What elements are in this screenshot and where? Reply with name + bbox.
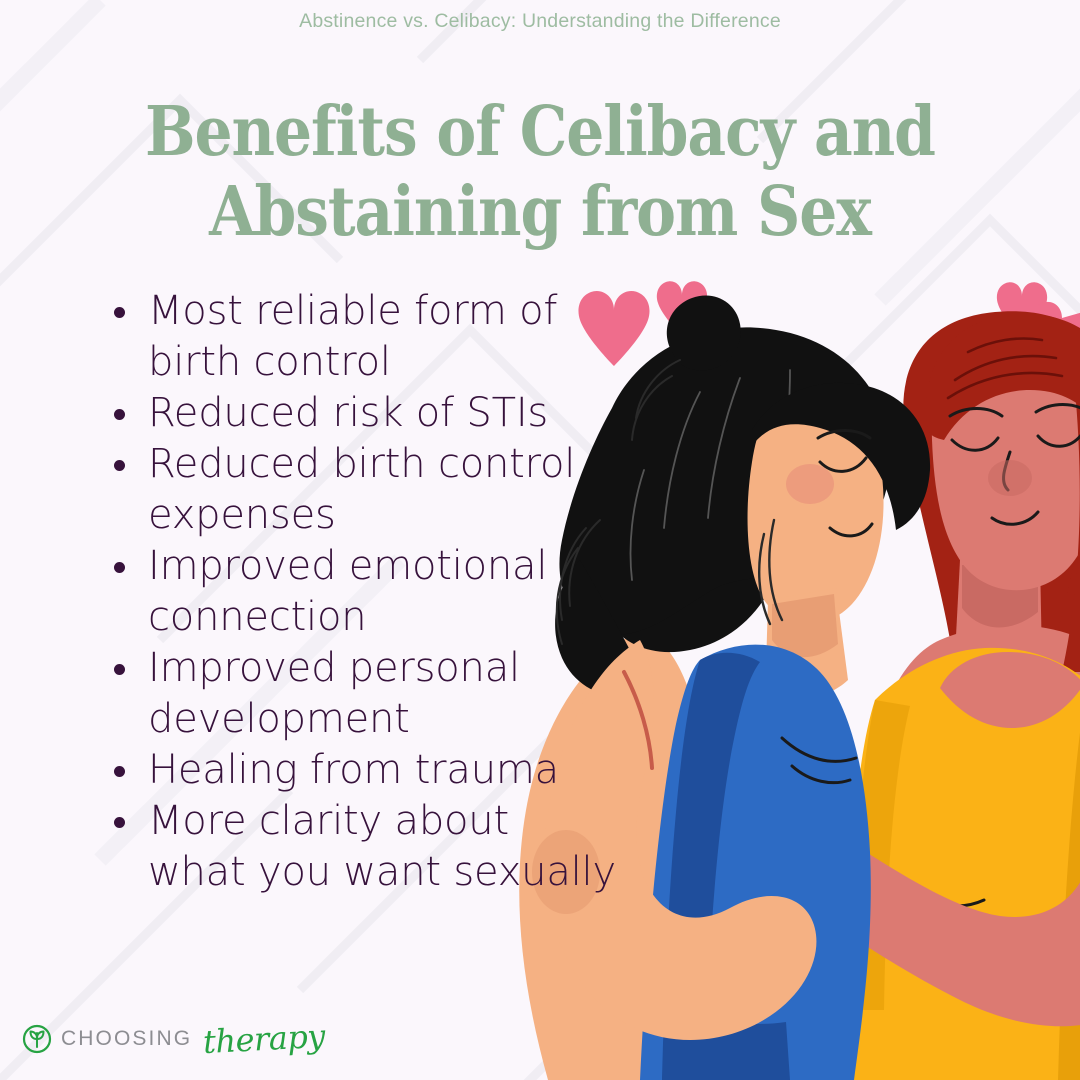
heart-icon-small-right xyxy=(997,282,1047,337)
mouth-right xyxy=(992,512,1038,524)
finger-line-1 xyxy=(790,866,860,892)
hair-left-bun xyxy=(667,296,741,371)
top-right-neckline xyxy=(940,652,1080,728)
hair-right-flow xyxy=(1045,400,1080,691)
top-left-hem-shadow xyxy=(662,1000,790,1080)
fold-line-left-2 xyxy=(792,766,850,783)
benefits-list: Most reliable form of birth control Redu… xyxy=(106,286,616,898)
bullet-dot-icon xyxy=(114,460,125,471)
logo-word-choosing: CHOOSING xyxy=(61,1027,192,1051)
eye-closed-right-outer xyxy=(952,438,998,450)
fold-line-left-1 xyxy=(782,738,856,761)
eye-closed-right-inner xyxy=(1038,434,1080,446)
page-header: Abstinence vs. Celibacy: Understanding t… xyxy=(0,10,1080,33)
heart-icon-edge-right xyxy=(1031,302,1080,380)
eyebrow-left xyxy=(818,431,870,439)
list-item-label: Improved personal development xyxy=(148,645,520,742)
lotus-leaf-icon xyxy=(22,1024,52,1054)
list-item: Improved personal development xyxy=(106,643,616,745)
list-item-label: More clarity about what you want sexuall… xyxy=(148,798,616,895)
finger-line-2 xyxy=(782,884,854,910)
torso-right xyxy=(830,625,1080,1080)
bullet-dot-icon xyxy=(114,562,125,573)
page-title-line-1: Benefits of Celibacy and xyxy=(118,92,963,172)
eyebrow-right-inner xyxy=(1036,405,1080,413)
neck-shadow-left xyxy=(772,594,838,657)
bullet-dot-icon xyxy=(114,409,125,420)
fold-line-right-1 xyxy=(900,882,984,906)
figure-right-woman xyxy=(777,311,1080,1080)
top-right-shadow xyxy=(1058,690,1080,1080)
page-title-line-2: Abstaining from Sex xyxy=(118,172,963,252)
hair-right-back xyxy=(903,311,1080,738)
neck-shadow-right xyxy=(962,565,1038,627)
hair-right-front xyxy=(926,314,1080,466)
face-right xyxy=(932,338,1080,591)
list-item-label: Improved emotional connection xyxy=(148,543,547,640)
list-item: Reduced birth control expenses xyxy=(106,439,616,541)
hair-right-side-strand xyxy=(1062,380,1080,672)
nose-right xyxy=(1004,452,1010,490)
list-item: Reduced risk of STIs xyxy=(106,388,616,439)
neck-right xyxy=(955,560,1042,674)
eyebrow-right-outer xyxy=(950,409,1002,417)
eye-closed-left xyxy=(820,458,866,471)
arm-right-embracing xyxy=(777,790,1080,1026)
top-left-strap-shadow xyxy=(662,653,760,1080)
bullet-dot-icon xyxy=(114,664,125,675)
hair-left-front xyxy=(752,383,930,530)
heart-shapes xyxy=(578,281,1080,380)
list-item: Healing from trauma xyxy=(106,745,616,796)
page-title: Benefits of Celibacy and Abstaining from… xyxy=(60,92,1020,252)
blush-left xyxy=(786,464,834,504)
arm-crease-left xyxy=(624,672,652,768)
top-right-yellow xyxy=(845,648,1080,1080)
loose-strand-left-2 xyxy=(759,534,770,624)
loose-strand-left xyxy=(769,520,782,620)
hair-left-back xyxy=(595,433,788,652)
logo-word-therapy: therapy xyxy=(202,1017,326,1061)
top-right-shadow-left xyxy=(850,700,910,1010)
list-item: More clarity about what you want sexuall… xyxy=(106,796,616,898)
face-left xyxy=(748,401,884,624)
header-title: Abstinence vs. Celibacy: Understanding t… xyxy=(299,10,781,32)
mouth-left xyxy=(830,524,872,536)
top-left-blue xyxy=(640,645,871,1080)
heart-icon-small-top xyxy=(657,281,707,336)
brand-logo[interactable]: CHOOSING therapy xyxy=(22,1020,325,1058)
bullet-dot-icon xyxy=(114,307,125,318)
list-item: Most reliable form of birth control xyxy=(106,286,616,388)
finger-line-3 xyxy=(780,902,848,928)
neck-left xyxy=(766,588,848,696)
fold-line-right-2 xyxy=(912,912,970,929)
list-item-label: Healing from trauma xyxy=(148,747,559,793)
bullet-dot-icon xyxy=(114,817,125,828)
bullet-dot-icon xyxy=(114,766,125,777)
list-item: Improved emotional connection xyxy=(106,541,616,643)
list-item-label: Most reliable form of birth control xyxy=(148,288,557,385)
list-item-label: Reduced risk of STIs xyxy=(148,390,548,436)
list-item-label: Reduced birth control expenses xyxy=(148,441,575,538)
blush-right xyxy=(988,460,1032,496)
